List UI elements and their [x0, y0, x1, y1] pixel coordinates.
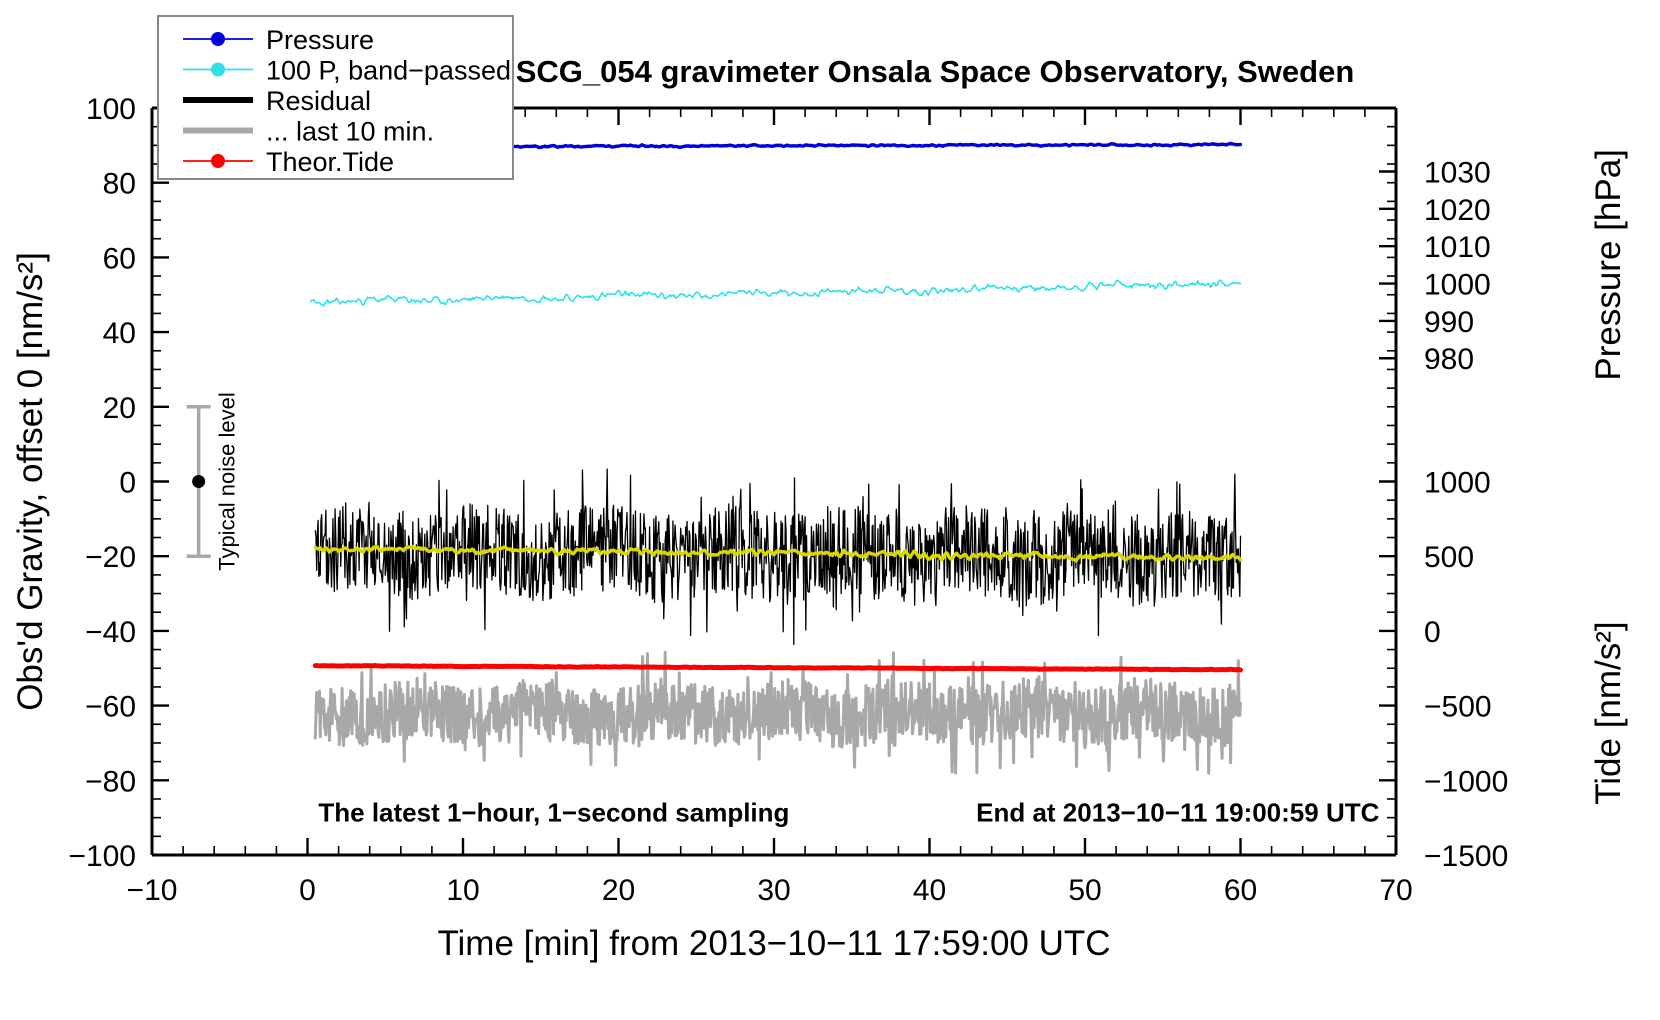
x-tick-label: 50	[1068, 874, 1101, 907]
x-tick-label: 0	[299, 874, 316, 907]
y-tick-label: −40	[85, 616, 136, 649]
legend-label-1: 100 P, band−passed	[266, 56, 511, 86]
tide-axis-tick-label: 500	[1424, 541, 1474, 574]
y-tick-label: 100	[86, 93, 136, 126]
gravimeter-plot-figure: Typical noise levelThe latest 1−hour, 1−…	[0, 0, 1660, 1020]
pressure-axis-title: Pressure [hPa]	[1589, 149, 1628, 381]
x-axis-title: Time [min] from 2013−10−11 17:59:00 UTC	[437, 924, 1110, 963]
x-tick-label: 70	[1379, 874, 1412, 907]
x-tick-label: 60	[1224, 874, 1257, 907]
legend-label-3: ... last 10 min.	[266, 117, 434, 147]
legend-label-2: Residual	[266, 86, 371, 116]
end-time-note-text: End at 2013−10−11 19:00:59 UTC	[976, 797, 1379, 827]
pressure-axis-tick-label: 1030	[1424, 156, 1491, 189]
legend-label-0: Pressure	[266, 25, 374, 55]
pressure-axis-tick-label: 1010	[1424, 231, 1491, 264]
legend-marker-4	[211, 154, 225, 168]
pressure-axis-tick-label: 1000	[1424, 269, 1491, 302]
noise-level-label: Typical noise level	[215, 392, 240, 571]
y-tick-label: −20	[85, 541, 136, 574]
tide-axis-tick-label: 0	[1424, 616, 1441, 649]
y-tick-label: −100	[68, 840, 136, 873]
y-axis-title: Obs'd Gravity, offset 0 [nm/s²]	[11, 252, 50, 711]
x-tick-label: 10	[446, 874, 479, 907]
tide-axis-tick-label: 1000	[1424, 467, 1491, 500]
tide-axis-tick-label: −500	[1424, 691, 1492, 724]
y-tick-label: 20	[103, 392, 136, 425]
legend-label-4: Theor.Tide	[266, 147, 394, 177]
y-tick-label: 40	[103, 317, 136, 350]
tide-axis-title: Tide [nm/s²]	[1589, 621, 1628, 804]
legend-group: Pressure100 P, band−passedResidual... la…	[158, 16, 513, 179]
legend-marker-1	[211, 63, 225, 77]
y-tick-label: −80	[85, 765, 136, 798]
x-tick-label: 30	[757, 874, 790, 907]
y-tick-label: 60	[103, 242, 136, 275]
y-tick-label: −60	[85, 691, 136, 724]
x-tick-label: 20	[602, 874, 635, 907]
y-tick-label: 0	[119, 467, 136, 500]
plot-title: SCG_054 gravimeter Onsala Space Observat…	[516, 54, 1355, 89]
pressure-axis-tick-label: 1020	[1424, 194, 1491, 227]
tide-axis-tick-label: −1000	[1424, 765, 1508, 798]
y-tick-label: 80	[103, 168, 136, 201]
x-tick-label: 40	[913, 874, 946, 907]
pressure-axis-tick-label: 990	[1424, 306, 1474, 339]
sampling-note-text: The latest 1−hour, 1−second sampling	[318, 797, 789, 827]
pressure-axis-tick-label: 980	[1424, 343, 1474, 376]
legend-marker-0	[211, 32, 225, 46]
plot-canvas: Typical noise levelThe latest 1−hour, 1−…	[0, 0, 1660, 1020]
noise-errorbar-marker	[192, 475, 205, 488]
x-tick-label: −10	[127, 874, 178, 907]
tide-axis-tick-label: −1500	[1424, 840, 1508, 873]
